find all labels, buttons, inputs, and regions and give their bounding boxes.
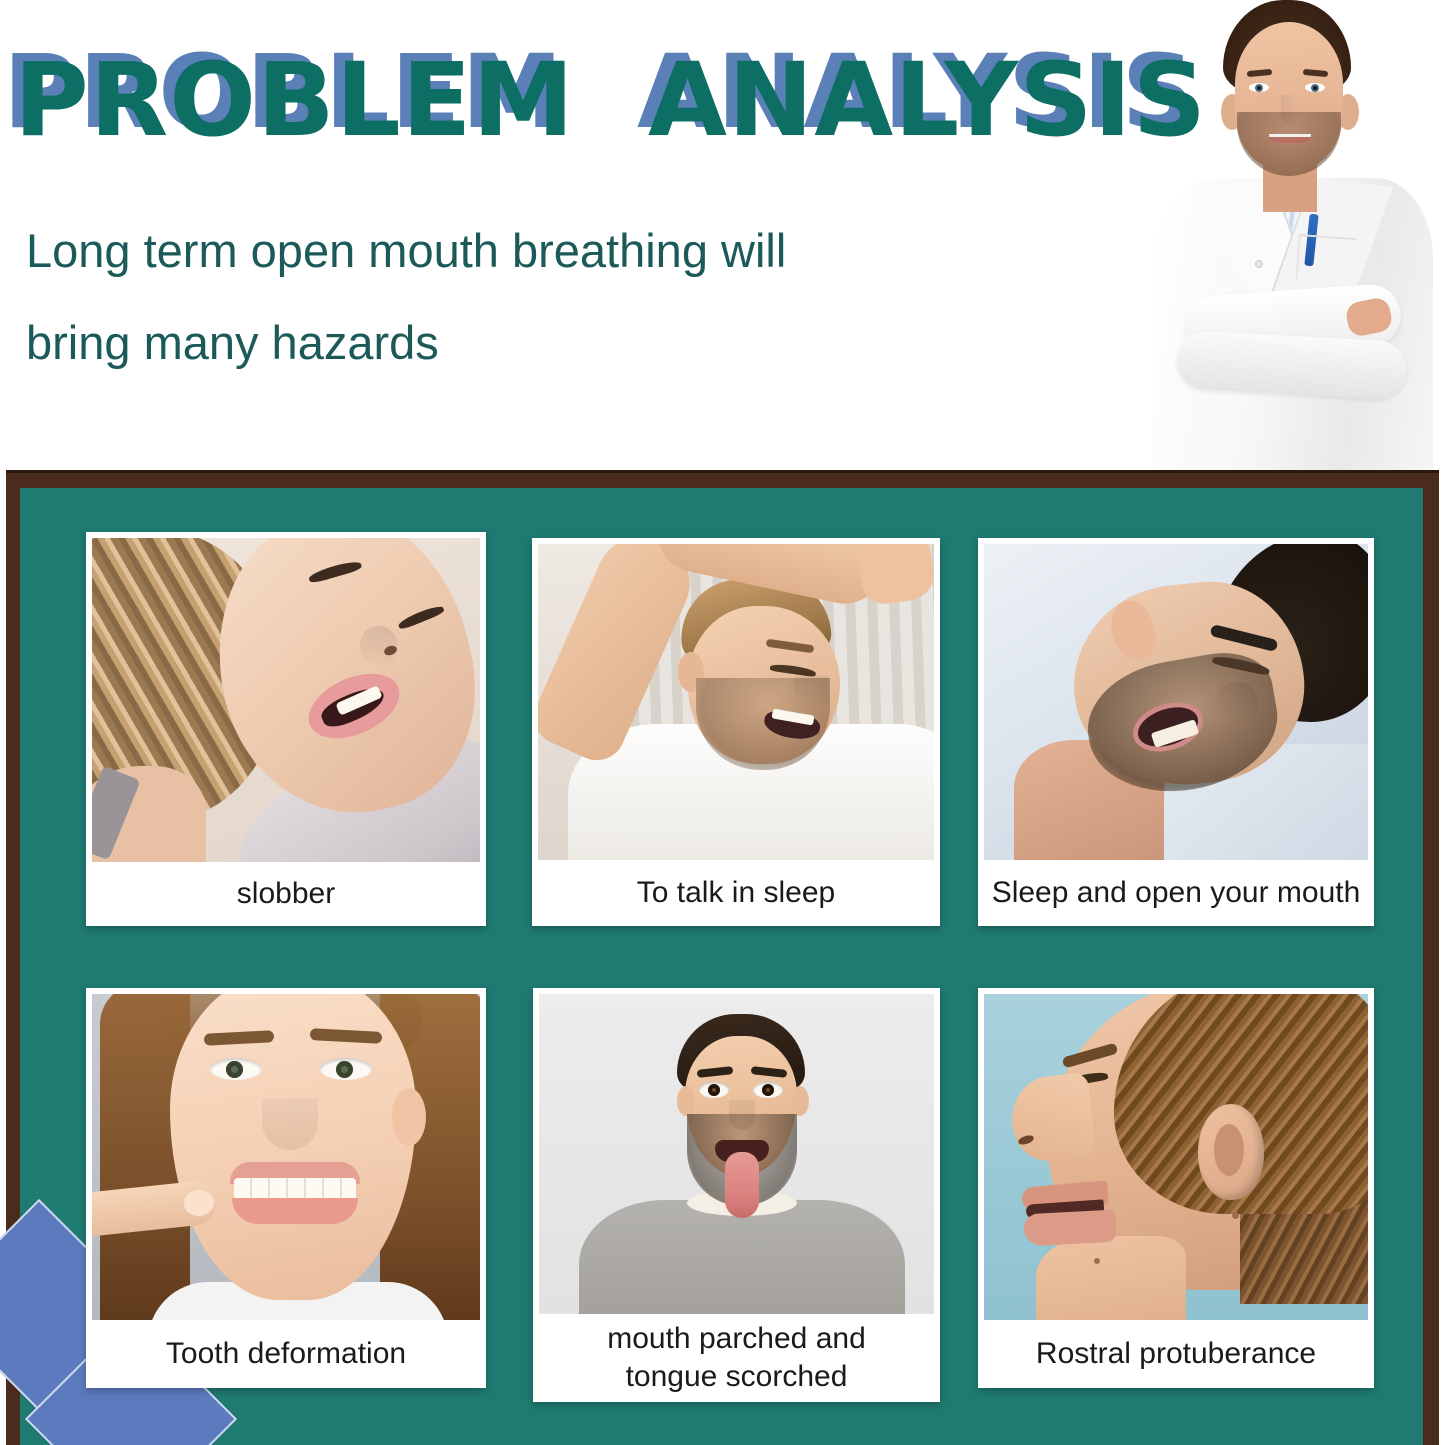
doctor-pupil-left [1255, 84, 1263, 92]
chin-shape [1036, 1236, 1186, 1320]
eye-shape-right [320, 1058, 372, 1080]
doctor-eye-left [1249, 83, 1269, 92]
mole-shape-2 [1232, 1212, 1239, 1219]
lower-lip-shape [1023, 1210, 1117, 1247]
doctor-pupil-right [1311, 84, 1319, 92]
ear-shape-left [677, 1086, 695, 1116]
card-image-rostral-protuberance [984, 994, 1368, 1320]
page-title-front-layer: PROBLEM ANALYSIS [14, 46, 1207, 156]
card-caption: mouth parched and tongue scorched [539, 1314, 934, 1402]
hazard-card[interactable]: Tooth deformation [86, 988, 486, 1388]
card-image-mouth-parched [539, 994, 934, 1314]
card-image-tooth-deformation [92, 994, 480, 1320]
card-caption: Sleep and open your mouth [984, 860, 1368, 926]
eye-shape-left [210, 1058, 262, 1080]
panel-frame: slobber [6, 470, 1439, 1445]
lower-lip-shape [232, 1198, 358, 1224]
nose-shape [794, 676, 828, 712]
hazard-card[interactable]: Sleep and open your mouth [978, 538, 1374, 926]
doctor-pocket [1295, 234, 1356, 284]
nose-shape [1008, 1072, 1096, 1164]
doctor-arm-lower [1176, 330, 1409, 400]
hazard-card-grid: slobber [20, 488, 1423, 1445]
header-subtitle-line-1: Long term open mouth breathing will [26, 205, 956, 297]
header-subtitle: Long term open mouth breathing will brin… [26, 205, 956, 388]
mole-shape-3 [1094, 1258, 1100, 1264]
doctor-eye-right [1305, 83, 1325, 92]
header-section: PROBLEM ANALYSIS PROBLEM ANALYSIS Long t… [0, 0, 1445, 470]
eye-shape-left [699, 1082, 729, 1098]
hazard-card[interactable]: mouth parched and tongue scorched [533, 988, 940, 1402]
doctor-photo [1135, 0, 1445, 470]
card-caption: Tooth deformation [92, 1320, 480, 1388]
eye-shape-right [753, 1082, 783, 1098]
ear-shape [1198, 1104, 1264, 1200]
hazard-card[interactable]: slobber [86, 532, 486, 926]
card-caption: slobber [92, 862, 480, 926]
doctor-coat-button [1255, 260, 1263, 268]
header-subtitle-line-2: bring many hazards [26, 297, 956, 389]
card-image-slobber [92, 538, 480, 862]
doctor-nose [1281, 95, 1297, 123]
card-caption: To talk in sleep [538, 860, 934, 926]
card-image-sleep-open-mouth [984, 544, 1368, 860]
hazard-card[interactable]: Rostral protuberance [978, 988, 1374, 1388]
doctor-mouth [1269, 134, 1311, 143]
card-image-talk-in-sleep [538, 544, 934, 860]
ear-shape-right [791, 1086, 809, 1116]
mole-shape-1 [1148, 1116, 1154, 1122]
tongue-shape [725, 1152, 759, 1218]
poster-root: PROBLEM ANALYSIS PROBLEM ANALYSIS Long t… [0, 0, 1445, 1445]
card-caption: Rostral protuberance [984, 1320, 1368, 1388]
nose-shape [729, 1100, 755, 1130]
nose-shape [1216, 682, 1258, 718]
hazard-card[interactable]: To talk in sleep [532, 538, 940, 926]
ear-shape [392, 1088, 426, 1146]
hazards-panel: slobber [20, 488, 1423, 1445]
